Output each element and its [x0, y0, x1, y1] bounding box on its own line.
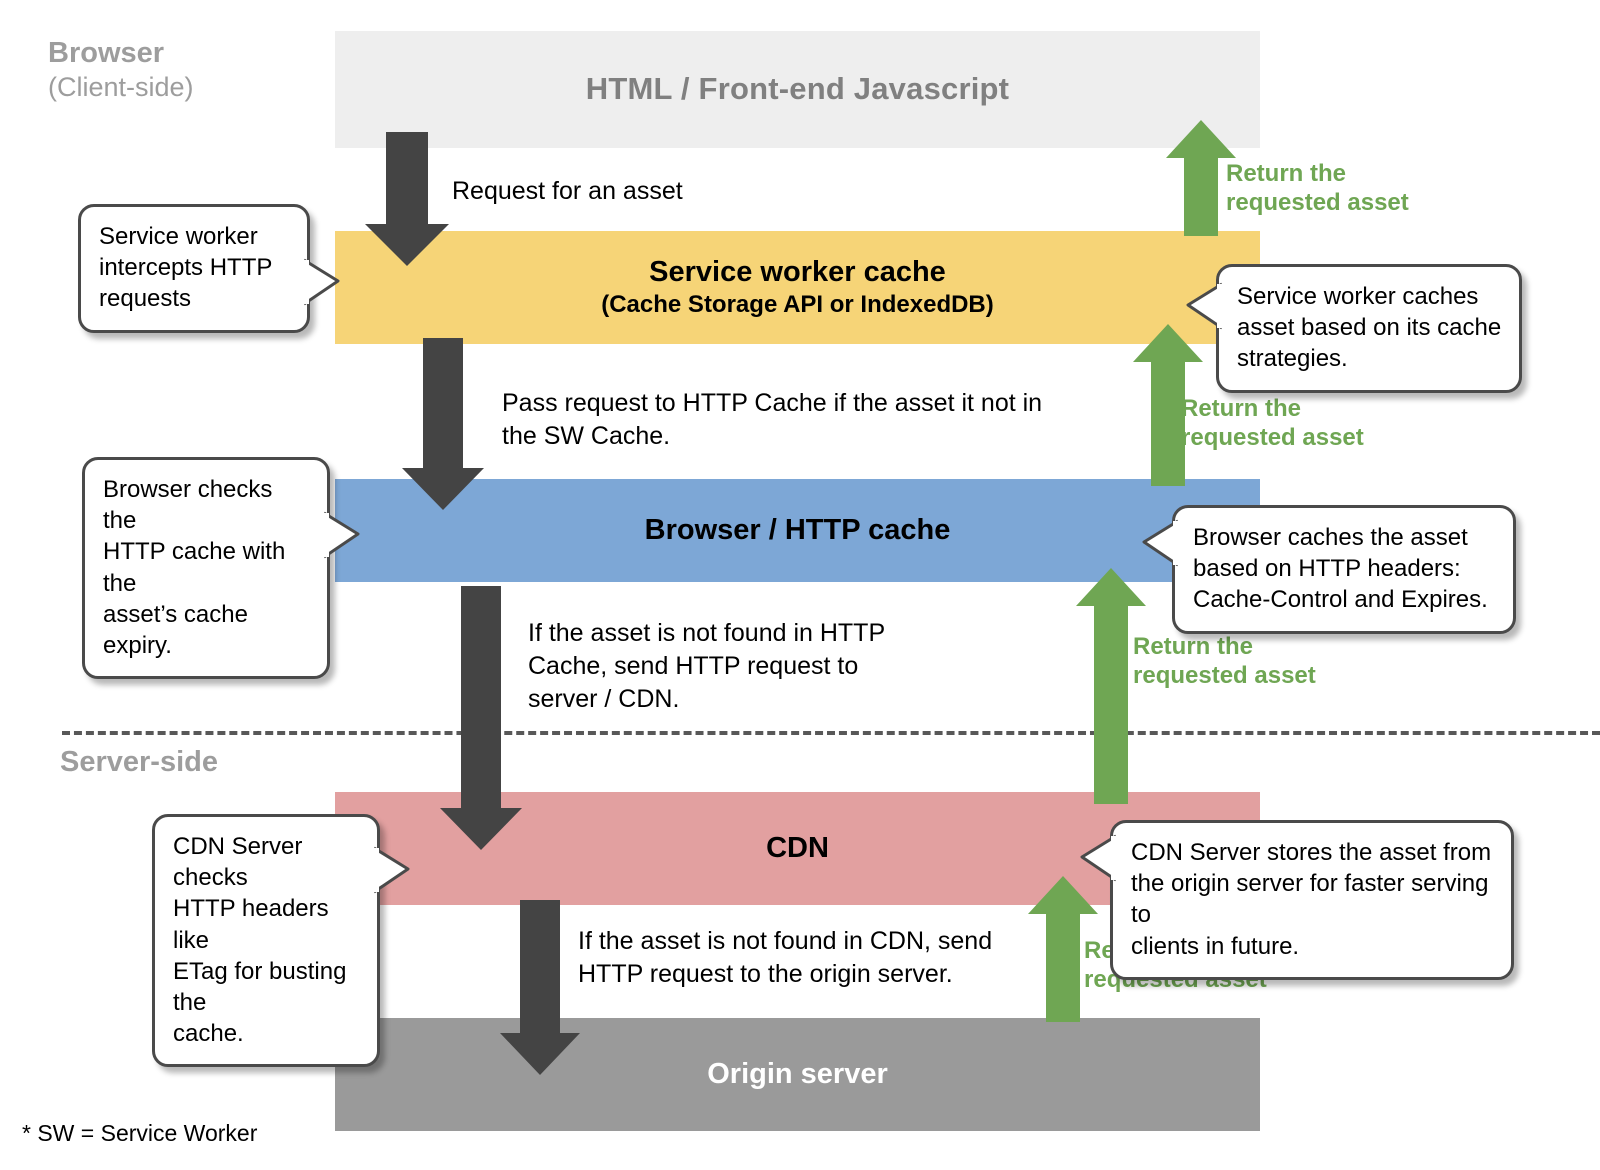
band-http-cache-title: Browser / HTTP cache	[645, 514, 951, 546]
callout-cdn-stores-text: CDN Server stores the asset from the ori…	[1110, 820, 1514, 980]
callout-sw-intercepts-text: Service worker intercepts HTTP requests	[78, 204, 310, 333]
section-label-server: Server-side	[60, 746, 218, 779]
callout-tail-left-icon	[1182, 280, 1222, 334]
band-html-title: HTML / Front-end Javascript	[586, 72, 1009, 107]
callout-sw-intercepts: Service worker intercepts HTTP requests	[78, 204, 310, 333]
flow-label-not-found-in-cdn: If the asset is not found in CDN, send H…	[578, 925, 992, 991]
request-arrow-html-to-sw-icon	[365, 132, 449, 266]
band-service-worker-cache: Service worker cache (Cache Storage API …	[335, 231, 1260, 344]
callout-sw-caches-text: Service worker caches asset based on its…	[1216, 264, 1522, 393]
request-arrow-cdn-to-origin-icon	[500, 900, 580, 1075]
return-label-to-http-cache: Return the requested asset	[1133, 632, 1316, 691]
flow-label-request-asset: Request for an asset	[452, 175, 683, 208]
callout-sw-caches: Service worker caches asset based on its…	[1216, 264, 1522, 393]
callout-tail-right-icon	[304, 256, 344, 310]
callout-cdn-checks-text: CDN Server checks HTTP headers like ETag…	[152, 814, 380, 1067]
section-label-server-main: Server-side	[60, 746, 218, 779]
return-label-to-html: Return the requested asset	[1226, 159, 1409, 218]
diagram-canvas: Browser (Client-side) Server-side HTML /…	[0, 0, 1600, 1170]
callout-browser-caches: Browser caches the asset based on HTTP h…	[1172, 505, 1516, 634]
section-label-browser: Browser (Client-side)	[48, 37, 194, 103]
band-origin-server: Origin server	[335, 1018, 1260, 1131]
band-cdn-title: CDN	[766, 832, 829, 864]
client-server-divider	[62, 731, 1600, 735]
callout-browser-checks: Browser checks the HTTP cache with the a…	[82, 457, 330, 679]
band-html-frontend: HTML / Front-end Javascript	[335, 31, 1260, 148]
request-arrow-sw-to-http-icon	[402, 338, 484, 510]
request-arrow-http-to-cdn-icon	[440, 586, 522, 850]
footnote-sw-abbreviation: * SW = Service Worker	[22, 1120, 257, 1147]
callout-cdn-checks: CDN Server checks HTTP headers like ETag…	[152, 814, 380, 1067]
callout-browser-checks-text: Browser checks the HTTP cache with the a…	[82, 457, 330, 679]
return-label-to-service-worker: Return the requested asset	[1181, 394, 1364, 453]
callout-tail-left-icon	[1138, 517, 1178, 571]
band-service-worker-subtitle: (Cache Storage API or IndexedDB)	[601, 291, 994, 319]
callout-tail-left-icon	[1076, 832, 1116, 886]
flow-label-pass-to-http-cache: Pass request to HTTP Cache if the asset …	[502, 387, 1042, 453]
flow-label-not-found-in-http: If the asset is not found in HTTP Cache,…	[528, 617, 885, 716]
callout-tail-right-icon	[374, 844, 414, 898]
band-service-worker-title: Service worker cache	[601, 256, 994, 288]
band-origin-server-title: Origin server	[707, 1058, 888, 1090]
section-label-browser-main: Browser	[48, 37, 194, 70]
callout-tail-right-icon	[324, 509, 364, 563]
callout-browser-caches-text: Browser caches the asset based on HTTP h…	[1172, 505, 1516, 634]
section-label-browser-sub: (Client-side)	[48, 72, 194, 103]
callout-cdn-stores: CDN Server stores the asset from the ori…	[1110, 820, 1514, 980]
